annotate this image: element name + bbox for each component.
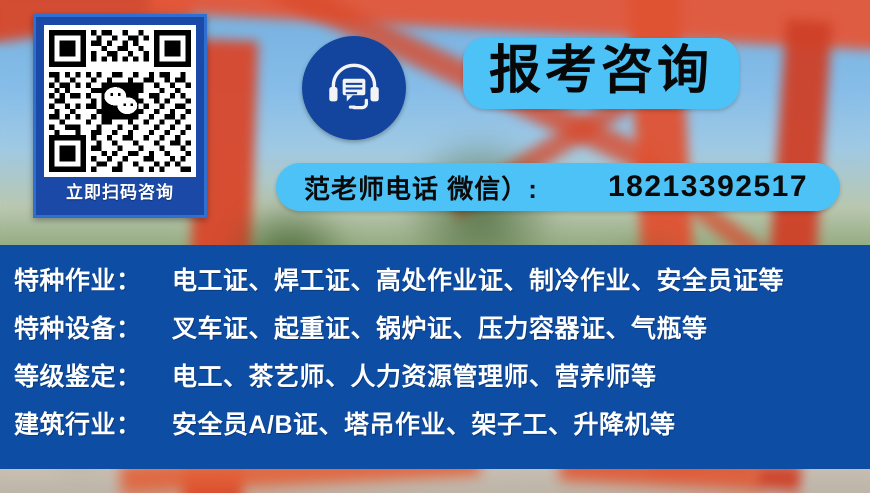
category-row-special-equipment: 特种设备： 叉车证、起重证、锅炉证、压力容器证、气瓶等 [0, 309, 870, 357]
headset-support-icon [321, 55, 387, 121]
category-items: 电工、茶艺师、人力资源管理师、营养师等 [172, 357, 657, 393]
category-label: 特种作业： [14, 261, 164, 297]
qr-code-card[interactable]: 立即扫码咨询 [33, 14, 207, 218]
contact-pill[interactable]: 范老师电话 微信）: 18213392517 [276, 163, 840, 211]
category-row-construction-industry: 建筑行业： 安全员A/B证、塔吊作业、架子工、升降机等 [0, 405, 870, 453]
category-items: 安全员A/B证、塔吊作业、架子工、升降机等 [172, 405, 676, 441]
support-badge [302, 36, 406, 140]
certificate-categories-panel: 特种作业： 电工证、焊工证、高处作业证、制冷作业、安全员证等 特种设备： 叉车证… [0, 245, 870, 469]
headline-pill: 报考咨询 [463, 38, 739, 109]
category-items: 电工证、焊工证、高处作业证、制冷作业、安全员证等 [172, 261, 784, 297]
qr-code-image[interactable] [44, 25, 196, 177]
contact-label: 范老师电话 微信）: [304, 169, 538, 206]
category-row-special-operations: 特种作业： 电工证、焊工证、高处作业证、制冷作业、安全员证等 [0, 261, 870, 309]
category-items: 叉车证、起重证、锅炉证、压力容器证、气瓶等 [172, 309, 708, 345]
contact-phone-number[interactable]: 18213392517 [608, 170, 808, 204]
qr-card-caption: 立即扫码咨询 [66, 184, 174, 201]
category-label: 等级鉴定： [14, 357, 164, 393]
category-row-grade-appraisal: 等级鉴定： 电工、茶艺师、人力资源管理师、营养师等 [0, 357, 870, 405]
promo-poster: 立即扫码咨询 报考咨询 范老师电话 微信）: [0, 0, 870, 493]
category-label: 特种设备： [14, 309, 164, 345]
headline-text: 报考咨询 [489, 44, 713, 99]
category-label: 建筑行业： [14, 405, 164, 441]
